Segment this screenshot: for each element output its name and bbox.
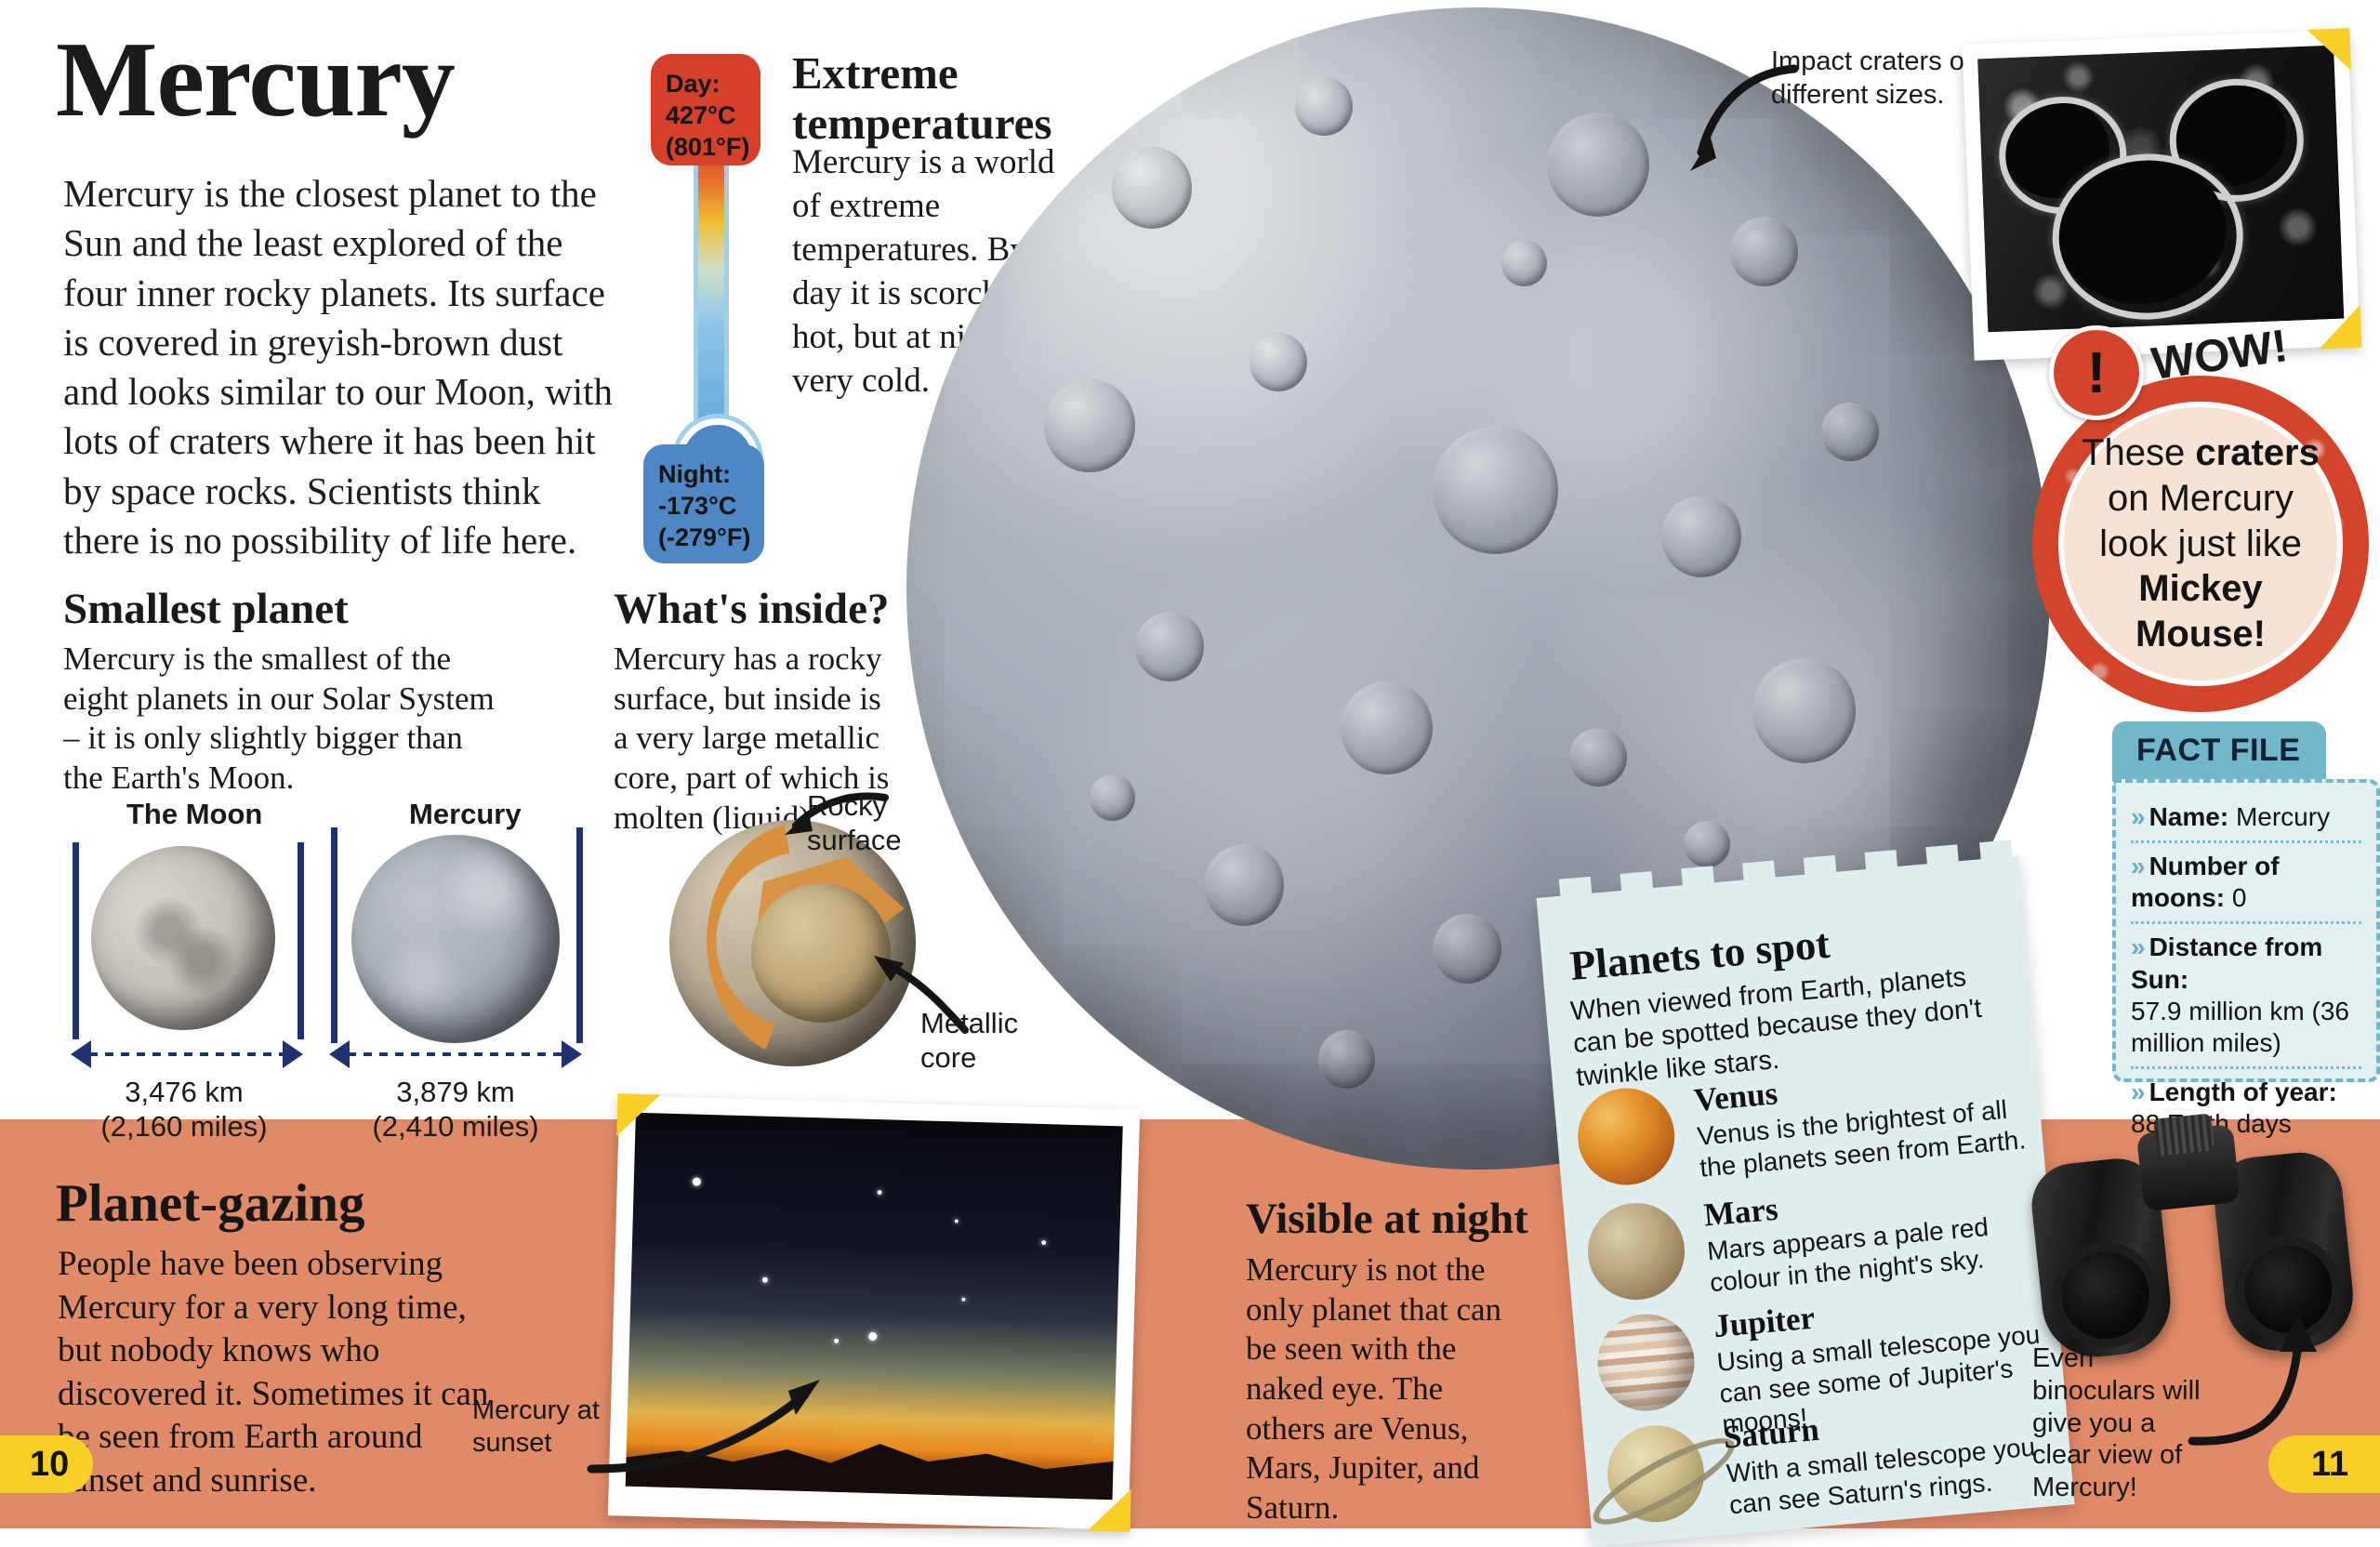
fact-value-distance: 57.9 million km (36 million miles)	[2131, 997, 2349, 1057]
mars-icon	[1584, 1199, 1689, 1304]
smallest-planet-heading: Smallest planet	[63, 584, 349, 634]
fact-divider	[2131, 921, 2361, 924]
mercury-arrow-left-icon	[329, 1040, 350, 1068]
moon-image	[91, 846, 275, 1030]
venus-icon	[1574, 1084, 1679, 1189]
fact-value-name: Mercury	[2228, 802, 2330, 831]
wow-line4: Mickey Mouse!	[2135, 568, 2266, 654]
mercury-measure-tick-right	[576, 827, 583, 1043]
impact-craters-note: Impact craters of different sizes.	[1771, 45, 1985, 112]
notepad-hole	[1559, 877, 1594, 919]
moon-size-caption: 3,476 km (2,160 miles)	[73, 1075, 296, 1144]
fact-file-tab: FACT FILE	[2112, 721, 2326, 779]
planets-to-spot-notepad: Planets to spot When viewed from Earth, …	[1536, 856, 2074, 1547]
star-dot	[693, 1178, 701, 1186]
jupiter-icon	[1593, 1310, 1699, 1415]
bullet-icon: »	[2131, 932, 2146, 961]
wow-line3: look just like	[2099, 523, 2302, 564]
mercury-size-image	[351, 835, 560, 1043]
wow-line2: on Mercury	[2108, 478, 2294, 519]
metallic-core-label: Metallic core	[920, 1006, 1041, 1075]
day-temperature-chip: Day: 427°C (801°F)	[651, 54, 760, 165]
night-label: Night:	[658, 460, 731, 488]
wow-fact-badge: These craters on Mercury look just like …	[2032, 376, 2369, 712]
moon-dimension-line	[89, 1052, 286, 1056]
moon-arrow-right-icon	[283, 1040, 303, 1068]
wow-badge-inner: These craters on Mercury look just like …	[2058, 402, 2343, 686]
bullet-icon: »	[2131, 1078, 2146, 1106]
moon-km: 3,476 km	[125, 1076, 244, 1108]
mercury-miles: (2,410 miles)	[372, 1110, 538, 1143]
smallest-planet-body: Mercury is the smallest of the eight pla…	[63, 640, 500, 799]
binocular-focus-wheel	[2153, 1113, 2215, 1156]
rocky-surface-label: Rocky surface	[807, 788, 937, 857]
fact-row-moons: »Number of moons: 0	[2131, 845, 2361, 919]
notepad-hole	[1925, 844, 1961, 886]
wow-line1-plain: These	[2082, 432, 2195, 473]
notepad-hole	[1742, 861, 1778, 903]
extreme-temperatures-heading: Extreme temperatures	[792, 48, 1090, 149]
page-number-left: 10	[0, 1435, 93, 1493]
exclamation-icon: !	[2049, 325, 2144, 420]
bullet-icon: »	[2131, 802, 2146, 831]
notepad-hole	[1681, 866, 1716, 907]
saturn-name: Saturn	[1722, 1411, 1820, 1457]
mercury-size-label: Mercury	[409, 798, 522, 831]
visible-at-night-body: Mercury is not the only planet that can …	[1246, 1250, 1515, 1528]
moon-arrow-left-icon	[71, 1040, 91, 1068]
saturn-ring-icon	[1583, 1424, 1744, 1540]
bullet-icon: »	[2131, 852, 2146, 880]
star-dot	[1041, 1240, 1046, 1245]
mercury-at-sunset-label: Mercury at sunset	[472, 1395, 635, 1460]
planet-gazing-heading: Planet-gazing	[56, 1173, 364, 1234]
day-temperature-text: Day: 427°C (801°F)	[666, 69, 749, 163]
page-number-right: 11	[2268, 1435, 2380, 1493]
mickey-mouse-craters-photo	[1963, 30, 2360, 361]
star-dot	[878, 1190, 882, 1195]
moon-measure-tick-left	[73, 842, 79, 1039]
day-label: Day:	[666, 70, 721, 98]
star-dot	[955, 1219, 959, 1223]
fact-row-distance: »Distance from Sun:57.9 million km (36 m…	[2131, 926, 2361, 1064]
binocular-lens-left	[2047, 1237, 2163, 1354]
wow-badge-text: These craters on Mercury look just like …	[2064, 430, 2337, 657]
mercury-arrow-right-icon	[562, 1040, 582, 1068]
fact-divider	[2131, 1066, 2361, 1069]
moon-measure-tick-right	[297, 842, 304, 1039]
day-celsius: 427°C	[666, 101, 735, 129]
wow-line1-bold: craters	[2195, 432, 2319, 473]
whats-inside-heading: What's inside?	[614, 584, 889, 634]
fact-label-name: Name:	[2149, 802, 2229, 831]
thermometer-tube	[694, 139, 729, 446]
star-dot	[762, 1277, 768, 1283]
visible-at-night-heading: Visible at night	[1246, 1194, 1528, 1244]
night-temperature-text: Night: -173°C (-279°F)	[658, 459, 750, 553]
intro-paragraph: Mercury is the closest planet to the Sun…	[63, 169, 621, 565]
moon-label: The Moon	[126, 798, 262, 831]
notepad-hole	[1979, 840, 2015, 881]
temperature-thermometer-graphic: Day: 427°C (801°F) Night: -173°C (-279°F…	[651, 54, 772, 519]
photo-corner-tape-top-right	[2307, 28, 2351, 73]
photo-corner-tape-bottom-right	[1088, 1488, 1131, 1532]
venus-name: Venus	[1692, 1075, 1778, 1119]
notepad-hole	[1620, 871, 1656, 913]
mickey-photo-image	[1977, 46, 2344, 332]
fact-label-year: Length of year:	[2149, 1078, 2337, 1106]
mercury-dimension-line	[348, 1052, 565, 1056]
photo-corner-tape-bottom-right	[2318, 305, 2362, 350]
mars-name: Mars	[1702, 1191, 1779, 1235]
night-fahrenheit: (-279°F)	[658, 523, 750, 551]
fact-divider	[2131, 840, 2361, 843]
mercury-size-caption: 3,879 km (2,410 miles)	[342, 1075, 569, 1144]
night-temperature-chip: Night: -173°C (-279°F)	[643, 444, 764, 563]
fact-file-panel: FACT FILE »Name: Mercury »Number of moon…	[2112, 721, 2380, 1086]
photo-corner-tape-top-left	[616, 1093, 660, 1137]
moon-miles: (2,160 miles)	[100, 1110, 267, 1143]
fact-label-distance: Distance from Sun:	[2131, 932, 2322, 993]
fact-row-name: »Name: Mercury	[2131, 796, 2361, 839]
notepad-hole	[1804, 855, 1839, 897]
fact-label-moons: Number of moons:	[2131, 852, 2280, 912]
page-title: Mercury	[56, 26, 455, 134]
mercury-km: 3,879 km	[396, 1076, 515, 1108]
mercury-dot	[868, 1332, 877, 1341]
saturn-icon	[1604, 1421, 1709, 1527]
notepad-hole	[1865, 850, 1900, 892]
fact-file-body: »Name: Mercury »Number of moons: 0 »Dist…	[2112, 779, 2380, 1082]
fact-value-moons: 0	[2225, 883, 2246, 912]
jupiter-name: Jupiter	[1712, 1300, 1817, 1345]
planet-gazing-body: People have been observing Mercury for a…	[58, 1243, 504, 1503]
star-dot	[962, 1298, 966, 1302]
mercury-measure-tick-left	[331, 827, 337, 1043]
night-celsius: -173°C	[658, 492, 736, 520]
binoculars-label: Even binoculars will give you a clear vi…	[2032, 1342, 2218, 1504]
day-fahrenheit: (801°F)	[666, 133, 749, 161]
